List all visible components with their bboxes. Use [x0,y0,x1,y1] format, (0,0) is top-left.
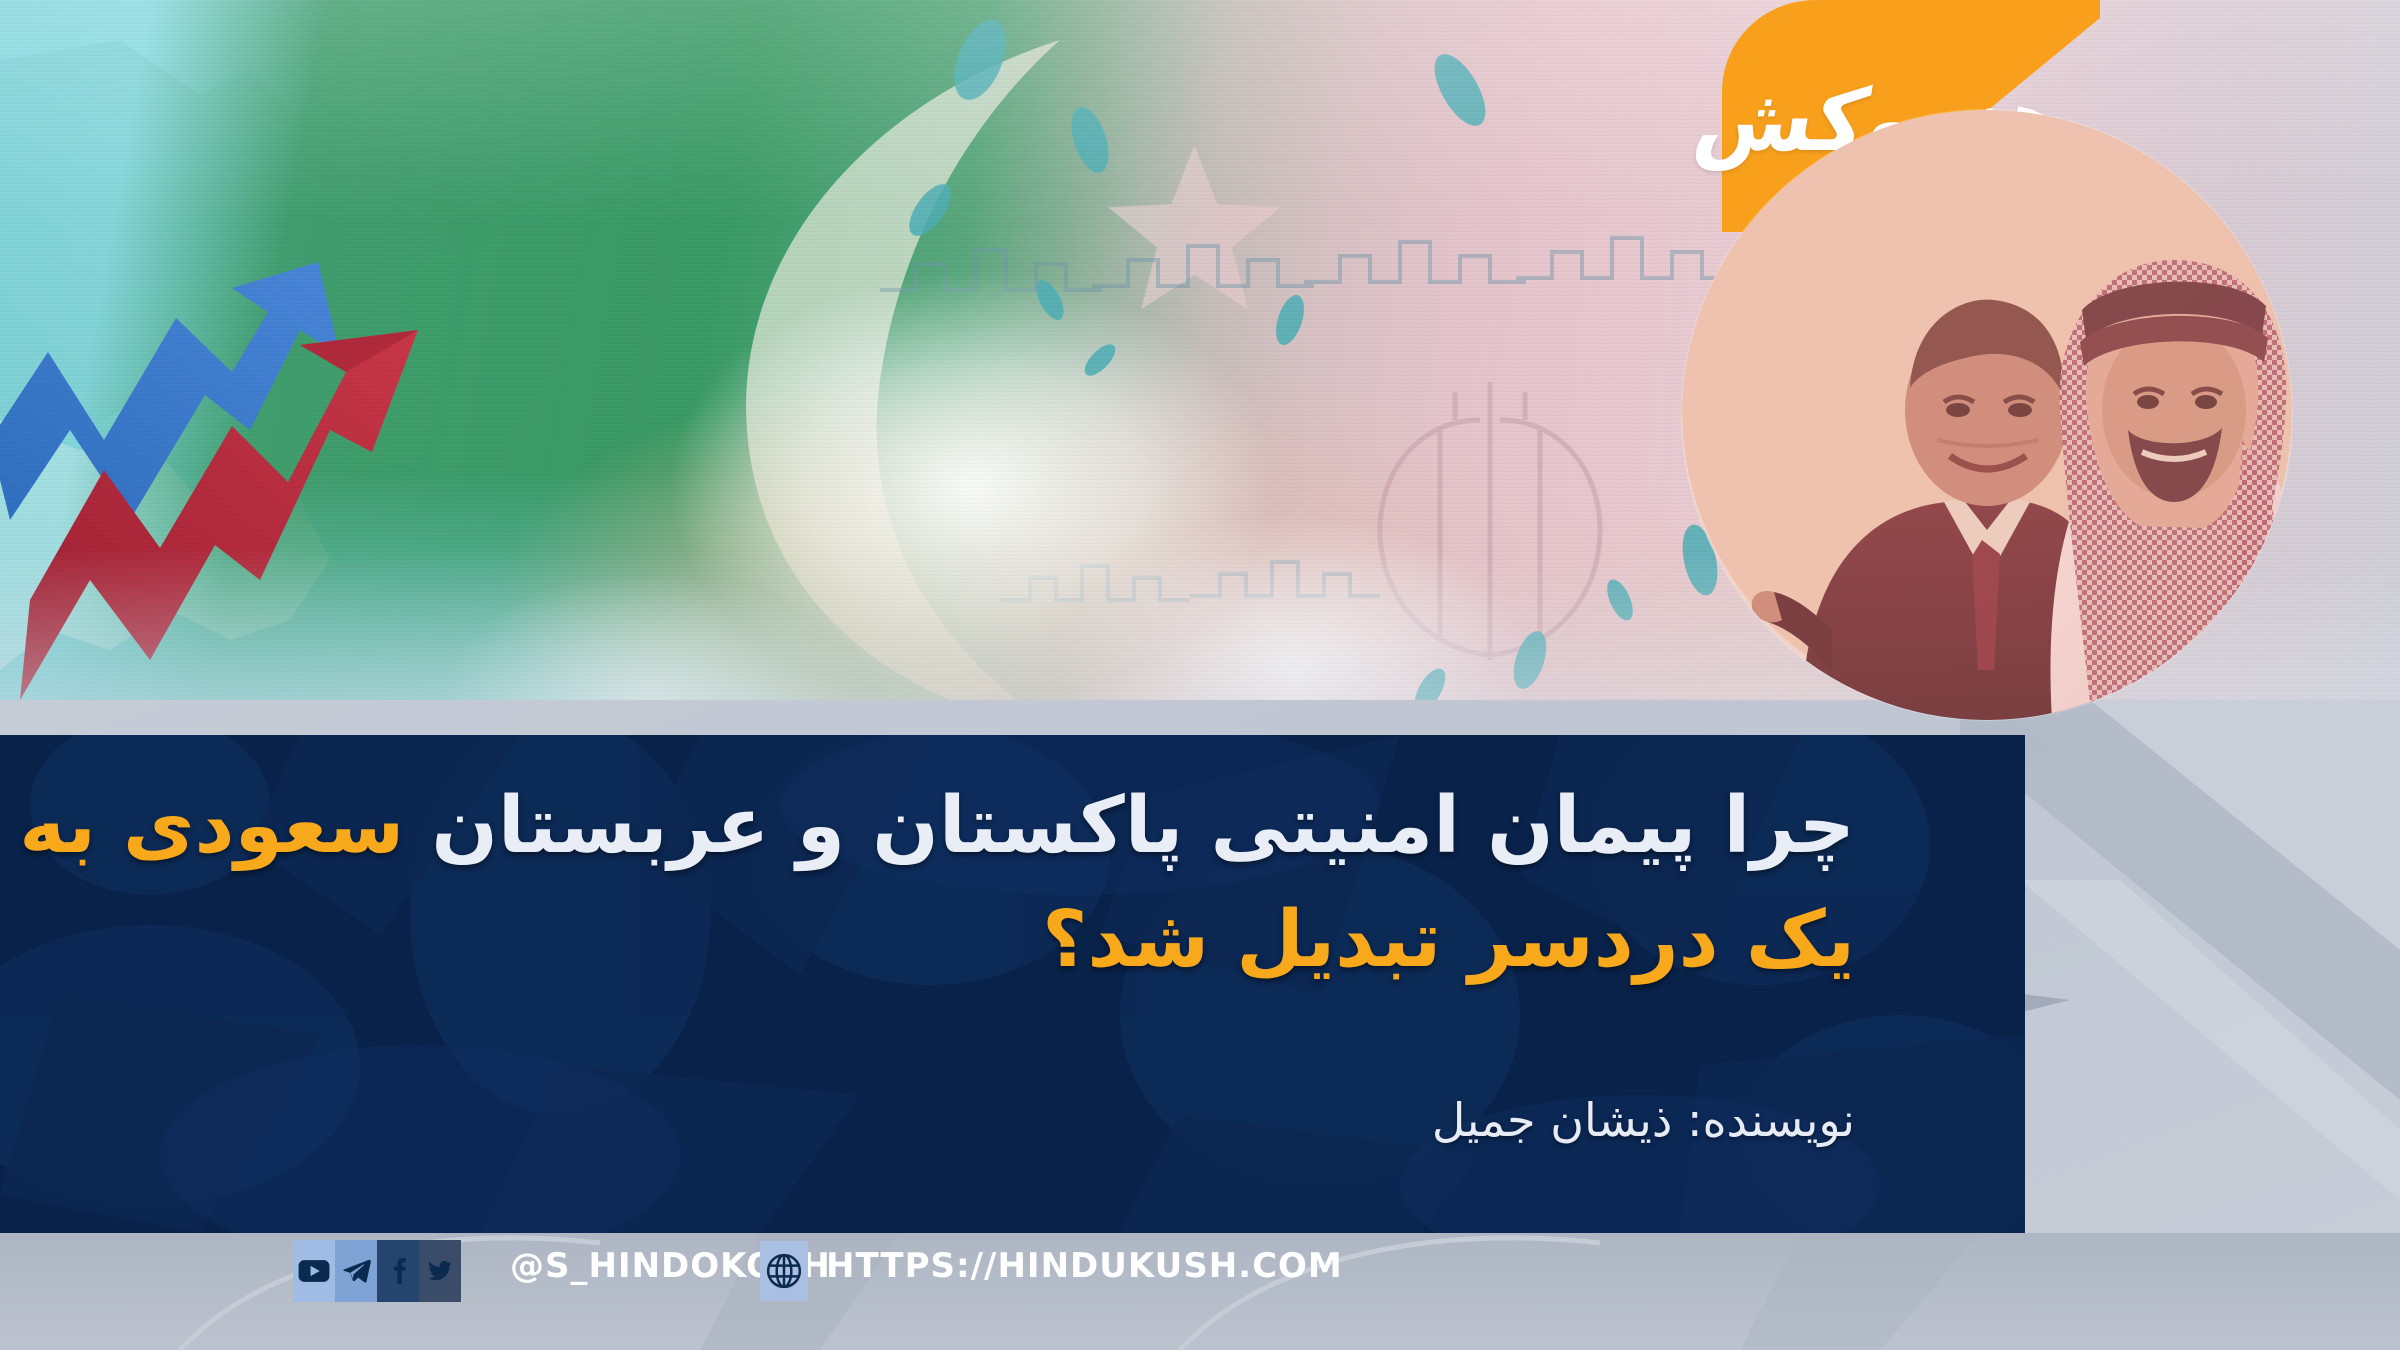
facebook-link[interactable] [377,1240,419,1302]
headline-line-1-plain: چرا پیمان امنیتی پاکستان و عربستان [404,781,1855,871]
title-panel: چرا پیمان امنیتی پاکستان و عربستان سعودی… [0,735,2025,1233]
youtube-icon [298,1259,330,1283]
youtube-link[interactable] [293,1240,335,1302]
globe-icon [765,1252,803,1290]
telegram-icon [341,1256,371,1286]
headline-line-1: چرا پیمان امنیتی پاکستان و عربستان سعودی… [170,773,1855,881]
website-url[interactable]: HTTPS://HINDUKUSH.COM [826,1246,1343,1286]
facebook-icon [384,1256,412,1286]
headline-line-1-highlight: سعودی به [19,781,404,871]
leaders-photo-artwork [1682,110,2292,720]
article-cover-poster: چرا پیمان امنیتی پاکستان و عربستان سعودی… [0,0,2400,1350]
social-links[interactable] [293,1240,461,1302]
leaders-photo [1682,110,2292,720]
telegram-link[interactable] [335,1240,377,1302]
byline: نویسنده: ذیشان جمیل [1432,1093,1855,1147]
headline-block: چرا پیمان امنیتی پاکستان و عربستان سعودی… [170,773,1855,994]
website-link-icon-box[interactable] [760,1241,808,1301]
headline-line-2: یک دردسر تبدیل شد؟ [170,887,1855,995]
twitter-link[interactable] [419,1240,461,1302]
twitter-icon [425,1258,455,1284]
